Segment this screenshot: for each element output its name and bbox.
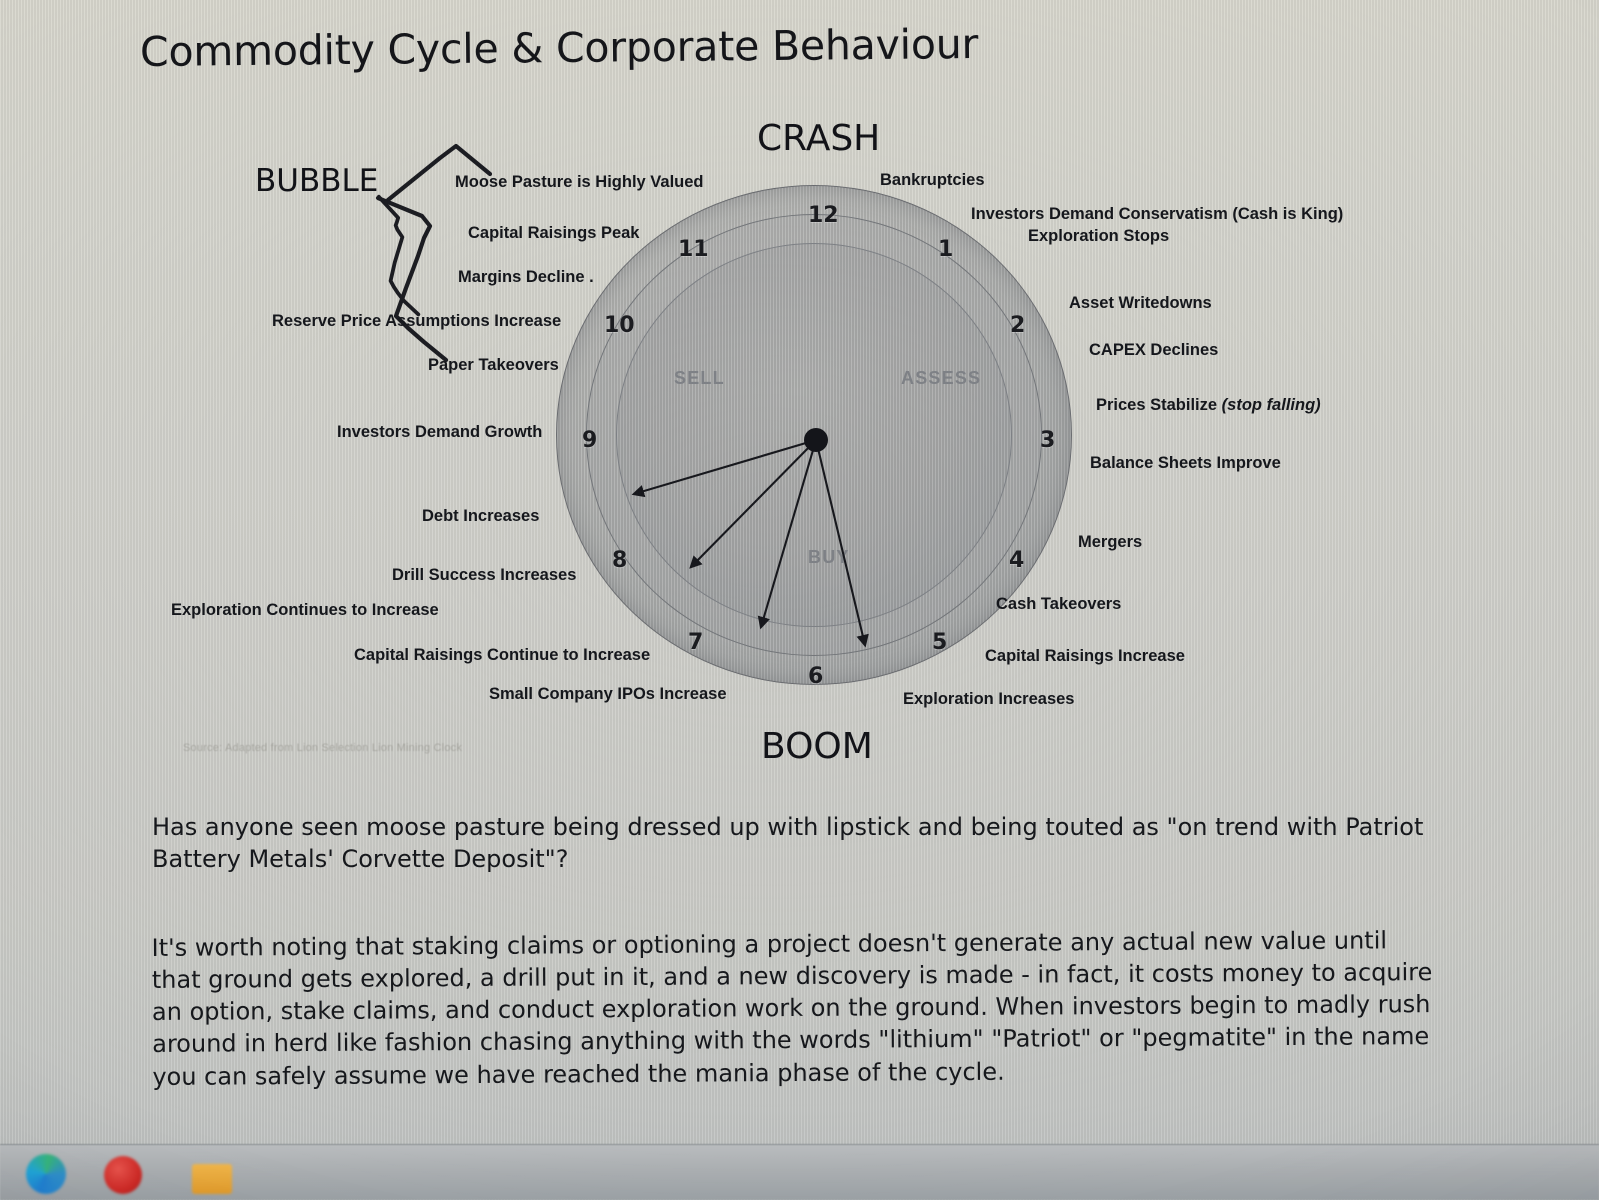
annotation-right-7: Mergers [1078,534,1142,551]
windows-taskbar[interactable] [0,1144,1599,1200]
annotation-left-8: Exploration Continues to Increase [171,602,439,619]
annotation-right-1: Investors Demand Conservatism (Cash is K… [971,206,1343,223]
annotation-left-2: Margins Decline . [458,269,594,286]
record-icon[interactable] [104,1156,142,1194]
annotation-left-9: Capital Raisings Continue to Increase [354,647,650,664]
annotation-right-10: Exploration Increases [903,691,1075,708]
annotation-right-9: Capital Raisings Increase [985,648,1185,665]
annotation-right-0: Bankruptcies [880,172,985,189]
annotation-left-3: Reserve Price Assumptions Increase [272,313,561,330]
body-paragraph-1: Has anyone seen moose pasture being dres… [152,812,1442,876]
commodity-cycle-clock: 12 1 2 3 4 5 6 7 8 9 10 11 SELL ASSESS B… [556,185,1086,695]
annotation-right-2: Exploration Stops [1028,228,1169,245]
annotation-right-6: Balance Sheets Improve [1090,455,1281,472]
body-paragraph-2-text: It's worth noting that staking claims or… [152,924,1443,1093]
source-attribution: Source: Adapted from Lion Selection Lion… [183,742,462,754]
annotation-left-10: Small Company IPOs Increase [489,686,727,703]
annotation-left-6: Debt Increases [422,508,539,525]
phase-label-boom: BOOM [761,726,873,767]
clock-hub [804,428,828,452]
annotation-left-4: Paper Takeovers [428,357,559,374]
annotation-left-7: Drill Success Increases [392,567,576,584]
annotation-right-8: Cash Takeovers [996,596,1121,613]
annotation-left-1: Capital Raisings Peak [468,225,640,242]
annotation-right-4: CAPEX Declines [1089,342,1218,359]
phase-label-bubble: BUBBLE [255,163,378,199]
clock-hands-group [556,185,1072,685]
annotation-right-5: Prices Stabilize (stop falling) [1096,397,1321,414]
folder-icon[interactable] [192,1164,232,1194]
phase-label-crash: CRASH [757,118,880,159]
body-paragraph-2: It's worth noting that staking claims or… [152,924,1443,1093]
clock-hand-4 [816,440,865,645]
annotation-left-5: Investors Demand Growth [337,424,542,441]
annotation-right-3: Asset Writedowns [1069,295,1212,312]
body-paragraph-1-text: Has anyone seen moose pasture being dres… [152,812,1442,876]
slide-canvas: Commodity Cycle & Corporate Behaviour CR… [0,0,1599,1145]
edge-browser-icon[interactable] [26,1154,66,1194]
annotation-left-0: Moose Pasture is Highly Valued [455,174,704,191]
annotation-right-5-text: Prices Stabilize (stop falling) [1096,396,1321,414]
page-title: Commodity Cycle & Corporate Behaviour [140,20,979,76]
